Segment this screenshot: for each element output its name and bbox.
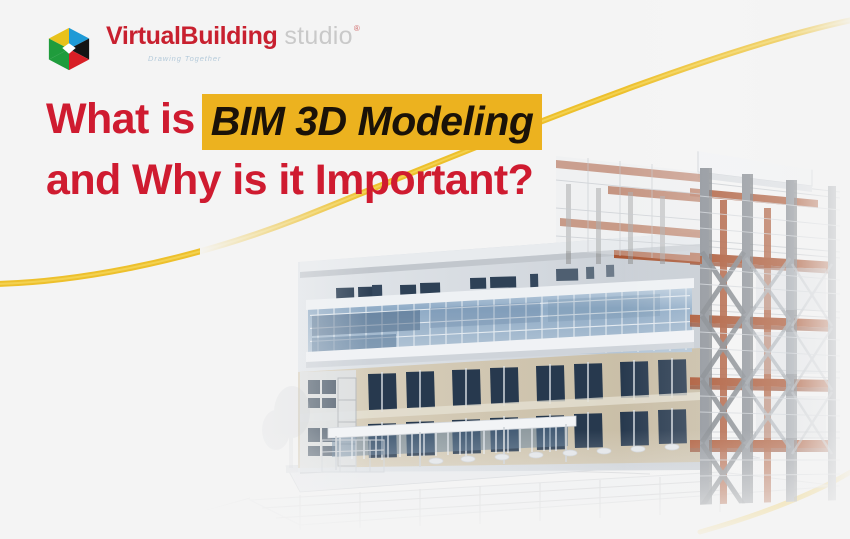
bim-blog-banner: VirtualBuilding studio ® Drawing Togethe… [0, 0, 850, 539]
registered-trademark-icon: ® [354, 25, 360, 33]
bim-building-3d-render [0, 0, 850, 539]
page-title: What isBIM 3D Modeling and Why is it Imp… [46, 92, 542, 202]
headline-line-1: What isBIM 3D Modeling [46, 92, 542, 148]
headline-highlight: BIM 3D Modeling [202, 94, 543, 150]
headline-prefix: What is [46, 95, 195, 143]
logo-text: VirtualBuilding studio ® Drawing Togethe… [106, 24, 360, 63]
headline-line-2: and Why is it Important? [46, 159, 542, 202]
hexagonal-cube-logo [44, 26, 94, 72]
yellow-swoosh-arc [0, 0, 850, 539]
logo-brand-secondary: studio [284, 24, 353, 49]
headline-line-2-text: and Why is it Important? [46, 156, 533, 204]
brand-logo[interactable]: VirtualBuilding studio ® Drawing Togethe… [44, 24, 360, 72]
logo-brand-primary: VirtualBuilding [106, 24, 277, 49]
logo-tagline: Drawing Together [148, 54, 221, 63]
